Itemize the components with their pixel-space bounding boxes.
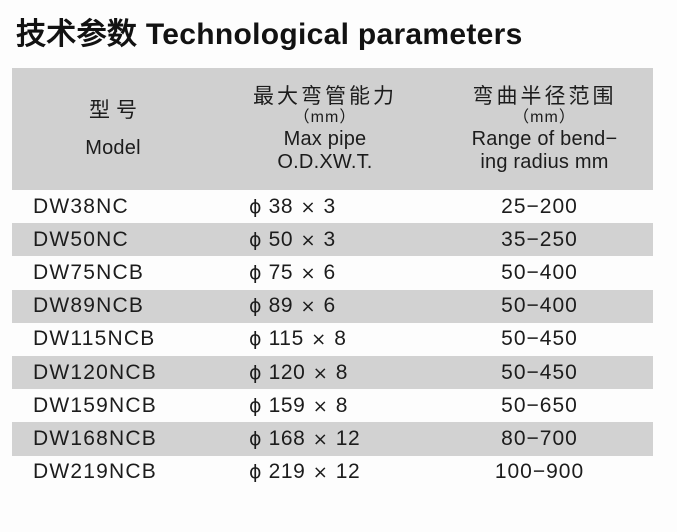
column-header-model-english: Model bbox=[85, 123, 140, 159]
phi-symbol: ϕ bbox=[249, 229, 262, 251]
cell-model: DW75NCB bbox=[12, 261, 214, 285]
column-header-bending-radius-english-1: Range of bend− bbox=[472, 128, 618, 150]
column-header-max-pipe-unit: （mm） bbox=[294, 109, 357, 128]
phi-symbol: ϕ bbox=[249, 395, 262, 417]
table-row: DW159NCBϕ 159 × 850−650 bbox=[12, 389, 653, 422]
wall-thickness-value: 8 bbox=[334, 327, 346, 350]
cell-max-pipe: ϕ 89 × 6 bbox=[214, 294, 436, 318]
multiply-symbol: × bbox=[305, 363, 335, 384]
table-header-row: 型号 Model 最大弯管能力 （mm） Max pipe O.D.XW.T. … bbox=[12, 68, 653, 190]
outer-diameter-value: 89 bbox=[262, 294, 293, 317]
column-header-model-chinese: 型号 bbox=[83, 99, 143, 124]
cell-model: DW115NCB bbox=[12, 327, 214, 351]
table-row: DW50NCϕ 50 × 335−250 bbox=[12, 223, 653, 256]
column-header-max-pipe-english-1: Max pipe bbox=[284, 128, 367, 150]
cell-max-pipe: ϕ 168 × 12 bbox=[214, 427, 436, 451]
phi-symbol: ϕ bbox=[249, 428, 262, 450]
cell-max-pipe: ϕ 219 × 12 bbox=[214, 460, 436, 484]
column-header-bending-radius-unit: （mm） bbox=[513, 109, 576, 128]
cell-max-pipe: ϕ 159 × 8 bbox=[214, 394, 436, 418]
page-title: 技术参数 Technological parameters bbox=[0, 0, 677, 62]
table-row: DW89NCBϕ 89 × 650−400 bbox=[12, 290, 653, 323]
wall-thickness-value: 3 bbox=[323, 195, 335, 218]
multiply-symbol: × bbox=[293, 230, 323, 251]
cell-bending-radius: 25−200 bbox=[436, 195, 653, 219]
column-header-max-pipe: 最大弯管能力 （mm） Max pipe O.D.XW.T. bbox=[214, 68, 436, 190]
spec-sheet-page: 技术参数 Technological parameters 型号 Model 最… bbox=[0, 0, 677, 532]
cell-bending-radius: 50−450 bbox=[436, 327, 653, 351]
outer-diameter-value: 168 bbox=[262, 427, 305, 450]
outer-diameter-value: 50 bbox=[262, 228, 293, 251]
page-title-english: Technological parameters bbox=[137, 18, 522, 51]
cell-model: DW120NCB bbox=[12, 361, 214, 385]
phi-symbol: ϕ bbox=[249, 461, 262, 483]
wall-thickness-value: 8 bbox=[336, 361, 348, 384]
phi-symbol: ϕ bbox=[249, 262, 262, 284]
outer-diameter-value: 219 bbox=[262, 460, 305, 483]
outer-diameter-value: 115 bbox=[262, 327, 304, 350]
cell-model: DW159NCB bbox=[12, 394, 214, 418]
column-header-model: 型号 Model bbox=[12, 68, 214, 190]
table-row: DW38NCϕ 38 × 325−200 bbox=[12, 190, 653, 223]
page-title-english-text: Technological parameters bbox=[146, 18, 523, 51]
cell-model: DW168NCB bbox=[12, 427, 214, 451]
outer-diameter-value: 120 bbox=[262, 361, 305, 384]
multiply-symbol: × bbox=[293, 296, 323, 317]
cell-bending-radius: 100−900 bbox=[436, 460, 653, 484]
phi-symbol: ϕ bbox=[249, 295, 262, 317]
multiply-symbol: × bbox=[304, 329, 334, 350]
cell-bending-radius: 50−400 bbox=[436, 294, 653, 318]
cell-bending-radius: 50−400 bbox=[436, 261, 653, 285]
cell-model: DW89NCB bbox=[12, 294, 214, 318]
table-body: DW38NCϕ 38 × 325−200DW50NCϕ 50 × 335−250… bbox=[12, 190, 653, 489]
cell-model: DW38NC bbox=[12, 195, 214, 219]
outer-diameter-value: 75 bbox=[262, 261, 293, 284]
cell-max-pipe: ϕ 120 × 8 bbox=[214, 361, 436, 385]
cell-max-pipe: ϕ 38 × 3 bbox=[214, 195, 436, 219]
column-header-bending-radius-english-2: ing radius mm bbox=[480, 151, 608, 173]
multiply-symbol: × bbox=[293, 197, 323, 218]
table-row: DW120NCBϕ 120 × 850−450 bbox=[12, 356, 653, 389]
cell-bending-radius: 80−700 bbox=[436, 427, 653, 451]
column-header-bending-radius-chinese: 弯曲半径范围 bbox=[473, 85, 617, 110]
cell-max-pipe: ϕ 115 × 8 bbox=[214, 327, 436, 351]
column-header-max-pipe-chinese: 最大弯管能力 bbox=[253, 85, 397, 110]
table-row: DW115NCBϕ 115 × 850−450 bbox=[12, 323, 653, 356]
wall-thickness-value: 12 bbox=[336, 460, 361, 483]
multiply-symbol: × bbox=[305, 396, 335, 417]
cell-max-pipe: ϕ 50 × 3 bbox=[214, 228, 436, 252]
cell-bending-radius: 50−450 bbox=[436, 361, 653, 385]
cell-bending-radius: 35−250 bbox=[436, 228, 653, 252]
multiply-symbol: × bbox=[293, 263, 323, 284]
specifications-table: 型号 Model 最大弯管能力 （mm） Max pipe O.D.XW.T. … bbox=[12, 68, 653, 489]
cell-model: DW50NC bbox=[12, 228, 214, 252]
wall-thickness-value: 6 bbox=[323, 294, 335, 317]
outer-diameter-value: 159 bbox=[262, 394, 305, 417]
page-title-chinese: 技术参数 bbox=[16, 17, 137, 52]
table-row: DW168NCBϕ 168 × 1280−700 bbox=[12, 422, 653, 455]
phi-symbol: ϕ bbox=[249, 328, 262, 350]
wall-thickness-value: 8 bbox=[336, 394, 348, 417]
cell-bending-radius: 50−650 bbox=[436, 394, 653, 418]
multiply-symbol: × bbox=[305, 429, 335, 450]
wall-thickness-value: 12 bbox=[336, 427, 361, 450]
wall-thickness-value: 3 bbox=[323, 228, 335, 251]
table-row: DW219NCBϕ 219 × 12100−900 bbox=[12, 456, 653, 489]
outer-diameter-value: 38 bbox=[262, 195, 293, 218]
phi-symbol: ϕ bbox=[249, 196, 262, 218]
cell-max-pipe: ϕ 75 × 6 bbox=[214, 261, 436, 285]
table-row: DW75NCBϕ 75 × 650−400 bbox=[12, 256, 653, 289]
phi-symbol: ϕ bbox=[249, 362, 262, 384]
page-title-text: 技术参数 Technological parameters bbox=[16, 9, 523, 53]
column-header-bending-radius: 弯曲半径范围 （mm） Range of bend− ing radius mm bbox=[436, 68, 653, 190]
cell-model: DW219NCB bbox=[12, 460, 214, 484]
column-header-max-pipe-english-2: O.D.XW.T. bbox=[277, 151, 372, 173]
wall-thickness-value: 6 bbox=[323, 261, 335, 284]
multiply-symbol: × bbox=[305, 462, 335, 483]
